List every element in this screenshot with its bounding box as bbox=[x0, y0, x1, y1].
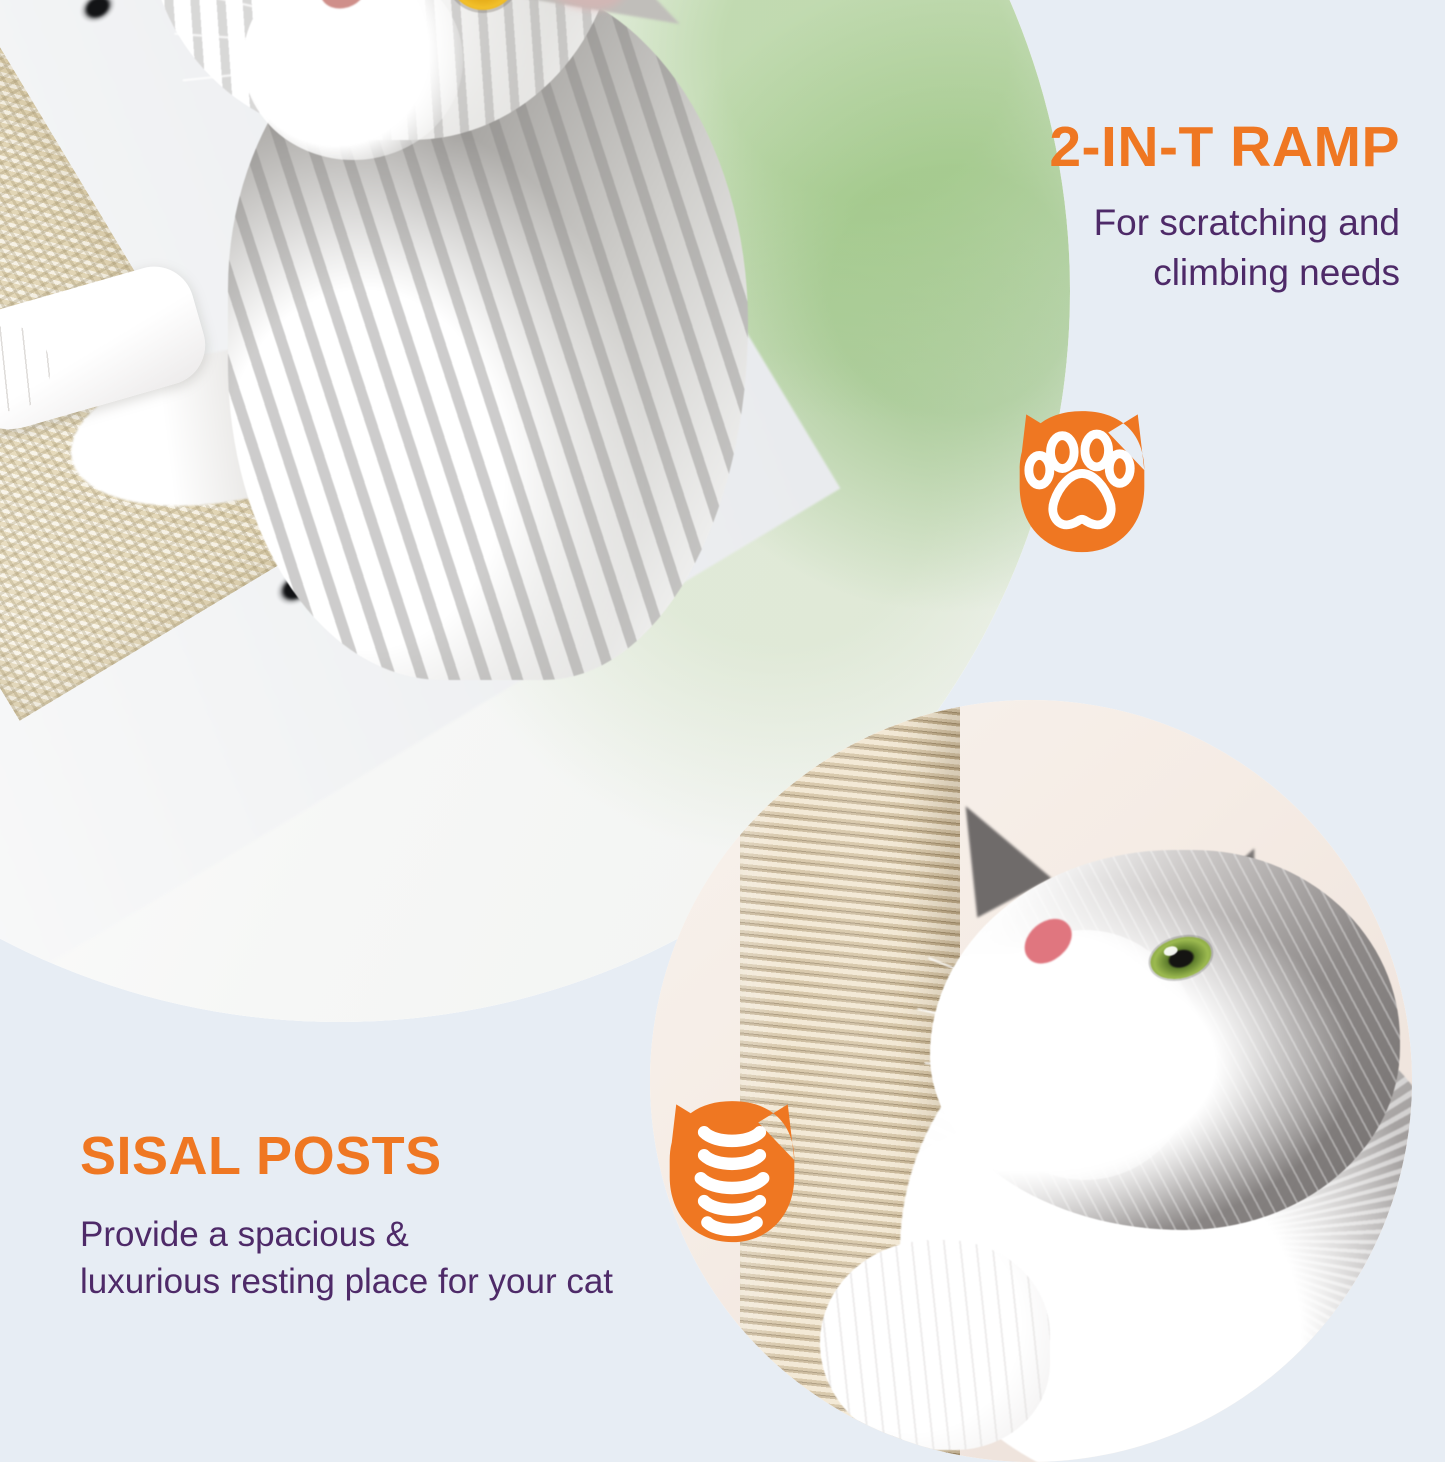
headline-sisal: SISAL POSTS bbox=[80, 1128, 800, 1185]
product-feature-collage: 2-IN-T RAMP For scratching and climbing … bbox=[0, 0, 1445, 1445]
tabby-cat-photo-subject bbox=[78, 0, 838, 650]
subline-sisal-line-2: luxurious resting place for your cat bbox=[80, 1258, 800, 1305]
fluffy-cat-photo-subject bbox=[860, 810, 1412, 1462]
photo-sisal-content bbox=[650, 700, 1412, 1462]
cat-front-paw bbox=[820, 1240, 1050, 1450]
subline-sisal: Provide a spacious & luxurious resting p… bbox=[80, 1211, 800, 1306]
feature-text-ramp: 2-IN-T RAMP For scratching and climbing … bbox=[760, 118, 1400, 298]
subline-ramp-line-2: climbing needs bbox=[760, 248, 1400, 298]
subline-ramp: For scratching and climbing needs bbox=[760, 198, 1400, 298]
photo-sisal-circle bbox=[650, 700, 1412, 1462]
headline-ramp: 2-IN-T RAMP bbox=[760, 118, 1400, 178]
cat-head bbox=[930, 850, 1400, 1230]
feature-text-sisal: SISAL POSTS Provide a spacious & luxurio… bbox=[80, 1128, 800, 1305]
subline-ramp-line-1: For scratching and bbox=[760, 198, 1400, 248]
paw-print-icon bbox=[1000, 398, 1164, 562]
subline-sisal-line-1: Provide a spacious & bbox=[80, 1211, 800, 1258]
